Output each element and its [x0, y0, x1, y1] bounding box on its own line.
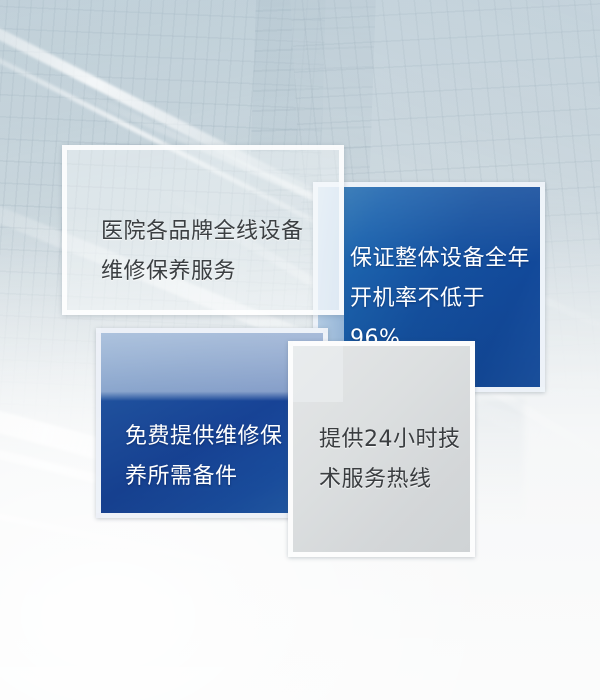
card-overlap-wash — [293, 346, 343, 402]
promo-graphic: 保证整体设备全年 开机率不低于96% 免费提供维修保 养所需备件 医院各品牌全线… — [0, 0, 600, 700]
card-hotline[interactable]: 提供24小时技 术服务热线 — [288, 341, 475, 557]
card-service-overview-text: 医院各品牌全线设备 维修保养服务 — [101, 212, 327, 292]
card-free-parts-text: 免费提供维修保 养所需备件 — [125, 417, 315, 497]
card-hotline-text: 提供24小时技 术服务热线 — [319, 420, 464, 500]
card-service-overview[interactable]: 医院各品牌全线设备 维修保养服务 — [62, 145, 344, 315]
